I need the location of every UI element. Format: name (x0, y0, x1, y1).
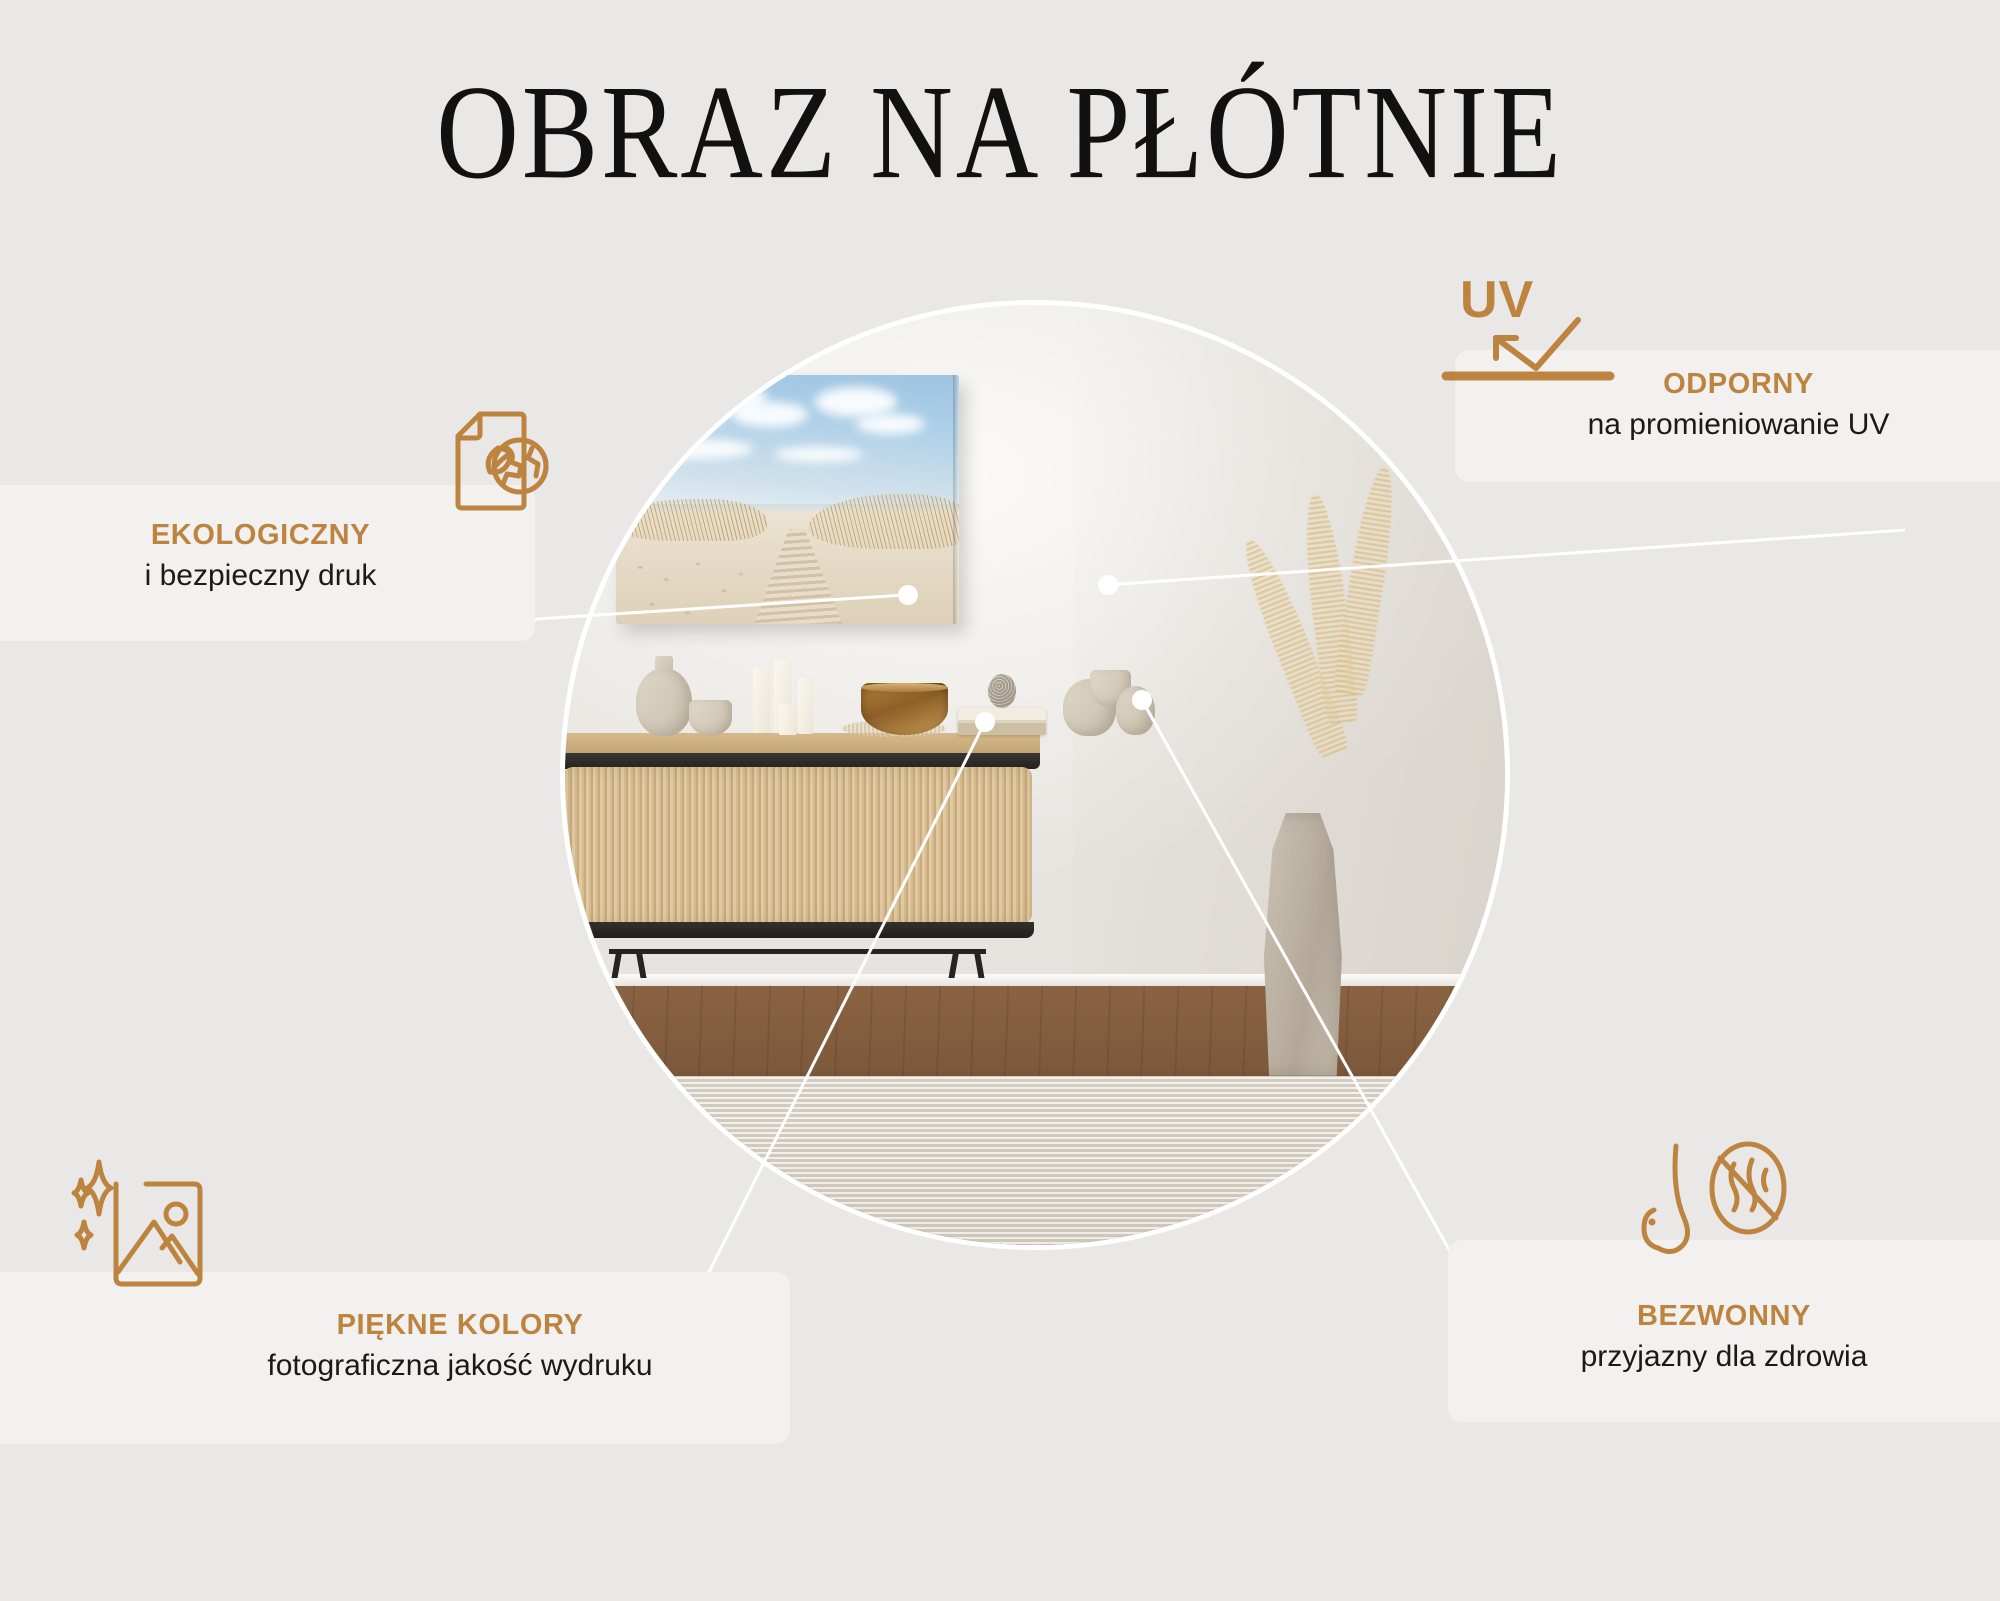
cloud (774, 447, 863, 462)
pillar-candle (798, 677, 813, 733)
pillar-candle (779, 704, 797, 735)
stacked-books (958, 708, 1046, 734)
sideboard-leg-bar (609, 949, 987, 954)
feature-card-colors-title: PIĘKNE KOLORY (130, 1309, 790, 1342)
canvas-wrap-edge (953, 375, 958, 624)
uv-reflect-icon: UV (1438, 276, 1638, 384)
feature-card-odor-title: BEZWONNY (1448, 1300, 2000, 1333)
feature-card-uv-subtitle: na promieniowanie UV (1477, 408, 2000, 442)
sideboard-fluted-front (565, 767, 1032, 925)
area-rug (565, 1076, 1505, 1245)
feature-card-eco-title: EKOLOGICZNY (0, 519, 521, 552)
pillar-candle (753, 668, 770, 733)
interior-scene (565, 305, 1505, 1245)
pampas-vase (1261, 813, 1346, 1076)
infographic-canvas: OBRAZ NA PŁÓTNIE (0, 0, 2000, 1601)
document-globe-leaf-icon (428, 392, 556, 512)
feature-card-eco-subtitle: i bezpieczny druk (0, 559, 521, 593)
sideboard-top (565, 733, 1040, 753)
ceramic-vase-round (1116, 686, 1155, 735)
cloud (815, 387, 897, 417)
vase-neck (655, 656, 673, 671)
cloud (732, 402, 807, 427)
sand-footprints (623, 554, 767, 621)
ceramic-bowl-small (689, 700, 732, 736)
feature-card-colors-subtitle: fotograficzna jakość wydruku (130, 1349, 790, 1383)
sideboard-base-trim (565, 922, 1034, 938)
sideboard (565, 733, 1040, 959)
page-title: OBRAZ NA PŁÓTNIE (30, 62, 1970, 203)
dune-grass (616, 499, 767, 541)
nose-no-smell-icon (1640, 1138, 1800, 1284)
room-scene-circle (565, 305, 1505, 1245)
ceramic-vase-round (636, 668, 692, 736)
feature-card-odor-subtitle: przyjazny dla zdrowia (1448, 1340, 2000, 1374)
brass-bowl-rim (861, 683, 947, 692)
photo-sparkle-icon (68, 1156, 228, 1302)
brass-bowl (861, 683, 947, 735)
canvas-artwork (616, 375, 959, 624)
